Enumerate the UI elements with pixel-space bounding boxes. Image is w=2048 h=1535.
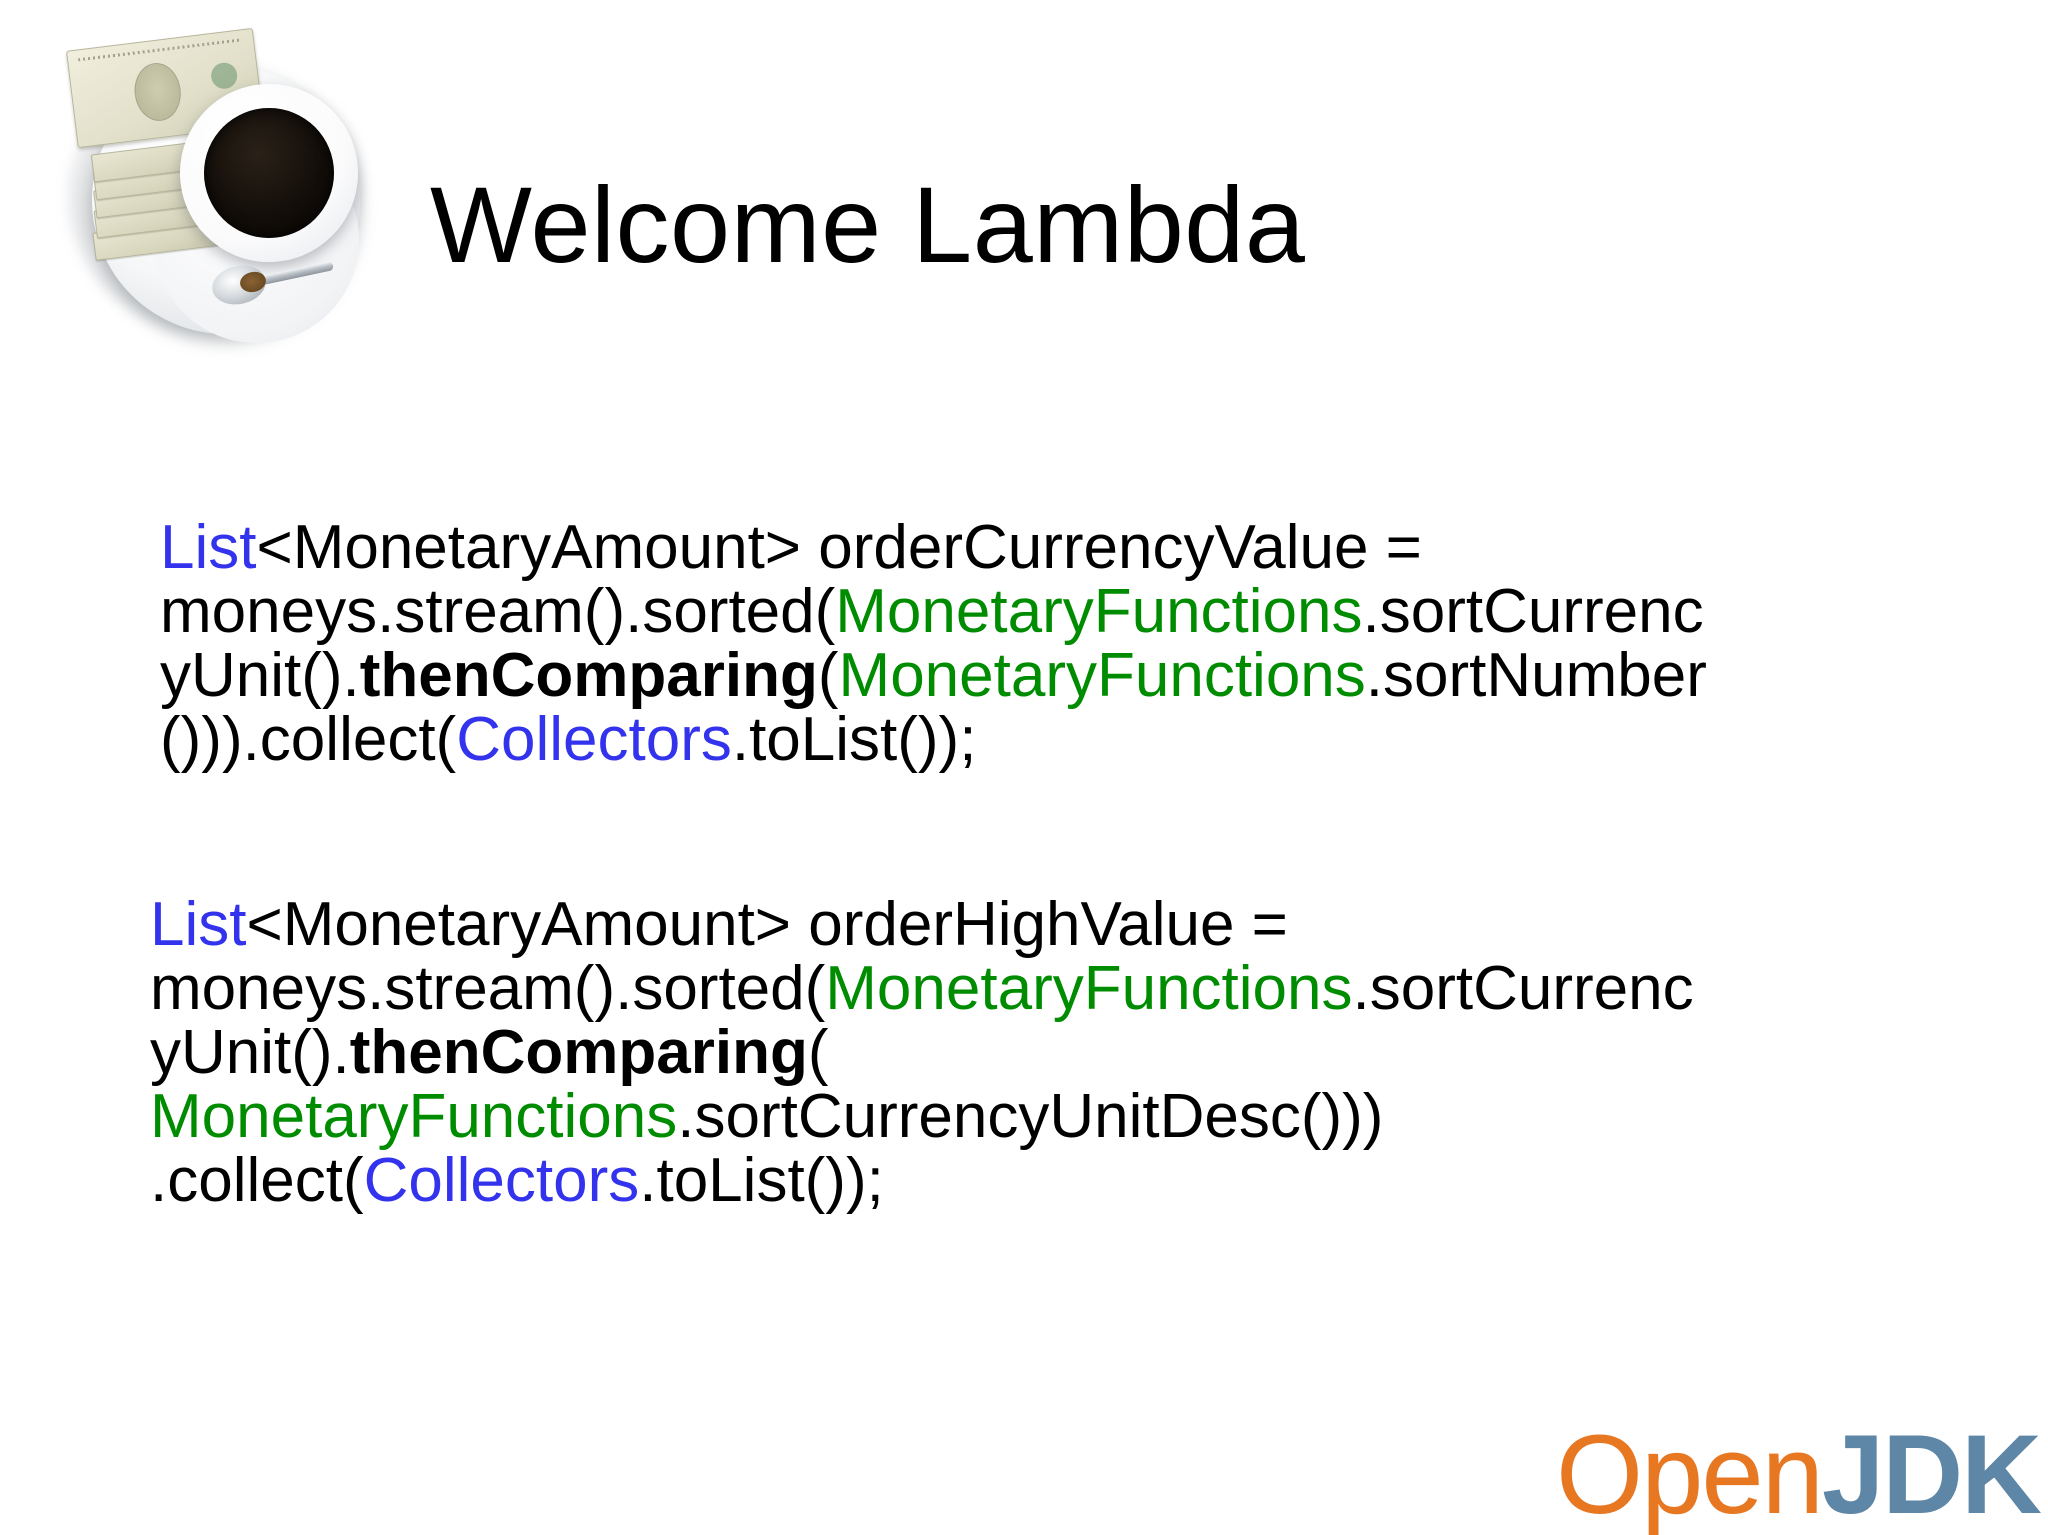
token-text: ())).collect( — [160, 705, 456, 774]
code-line: List<MonetaryAmount> orderHighValue = — [150, 893, 1860, 957]
token-text: <MonetaryAmount> orderCurrencyValue = — [256, 513, 1421, 582]
token-text: .sortCurrenc — [1353, 954, 1694, 1023]
token-text: .toList()); — [732, 705, 977, 774]
token-class-monetaryfunctions: MonetaryFunctions — [825, 954, 1352, 1023]
openjdk-logo-jdk-text: JDK — [1822, 1412, 2040, 1535]
token-text: moneys.stream().sorted( — [160, 577, 835, 646]
coffee-cup-shape — [180, 84, 358, 262]
token-text: ( — [818, 641, 839, 710]
token-text: yUnit(). — [150, 1018, 350, 1087]
page-title: Welcome Lambda — [430, 168, 1860, 281]
bill-portrait-oval — [131, 60, 184, 123]
black-coffee-surface — [204, 108, 334, 238]
code-line: yUnit().thenComparing( — [150, 1021, 1860, 1085]
openjdk-logo: OpenJDK — [1556, 1419, 2040, 1531]
token-text: .collect( — [150, 1146, 364, 1215]
slide-canvas: Welcome Lambda List<MonetaryAmount> orde… — [0, 0, 2048, 1535]
token-method-thencomparing: thenComparing — [360, 641, 818, 710]
token-type-collectors: Collectors — [364, 1146, 640, 1215]
code-line: ())).collect(Collectors.toList()); — [160, 708, 1860, 772]
token-text: moneys.stream().sorted( — [150, 954, 825, 1023]
token-type-list: List — [160, 513, 256, 582]
token-method-thencomparing: thenComparing — [350, 1018, 808, 1087]
token-class-monetaryfunctions: MonetaryFunctions — [150, 1082, 677, 1151]
code-line: List<MonetaryAmount> orderCurrencyValue … — [160, 516, 1860, 580]
code-line: moneys.stream().sorted(MonetaryFunctions… — [160, 580, 1860, 644]
token-text: .sortCurrencyUnitDesc())) — [677, 1082, 1383, 1151]
token-class-monetaryfunctions: MonetaryFunctions — [835, 577, 1362, 646]
code-content: List<MonetaryAmount> orderCurrencyValue … — [160, 516, 1860, 1213]
token-type-list: List — [150, 890, 246, 959]
token-text: <MonetaryAmount> orderHighValue = — [246, 890, 1287, 959]
code-line: .collect(Collectors.toList()); — [150, 1149, 1860, 1213]
code-line: moneys.stream().sorted(MonetaryFunctions… — [150, 957, 1860, 1021]
token-text: .toList()); — [639, 1146, 884, 1215]
token-text: ( — [808, 1018, 829, 1087]
bill-microprint — [78, 38, 241, 61]
code-block-order-high-value: List<MonetaryAmount> orderHighValue = mo… — [150, 893, 1860, 1212]
code-block-order-currency-value: List<MonetaryAmount> orderCurrencyValue … — [160, 516, 1860, 771]
openjdk-logo-open-text: Open — [1556, 1412, 1822, 1535]
token-class-monetaryfunctions: MonetaryFunctions — [839, 641, 1366, 710]
code-line: MonetaryFunctions.sortCurrencyUnitDesc()… — [150, 1085, 1860, 1149]
bill-treasury-seal — [210, 61, 239, 90]
token-type-collectors: Collectors — [456, 705, 732, 774]
code-line: yUnit().thenComparing(MonetaryFunctions.… — [160, 644, 1860, 708]
token-text: yUnit(). — [160, 641, 360, 710]
token-text: .sortNumber — [1366, 641, 1707, 710]
coffee-cup-with-money-photo — [62, 26, 374, 346]
token-text: .sortCurrenc — [1363, 577, 1704, 646]
